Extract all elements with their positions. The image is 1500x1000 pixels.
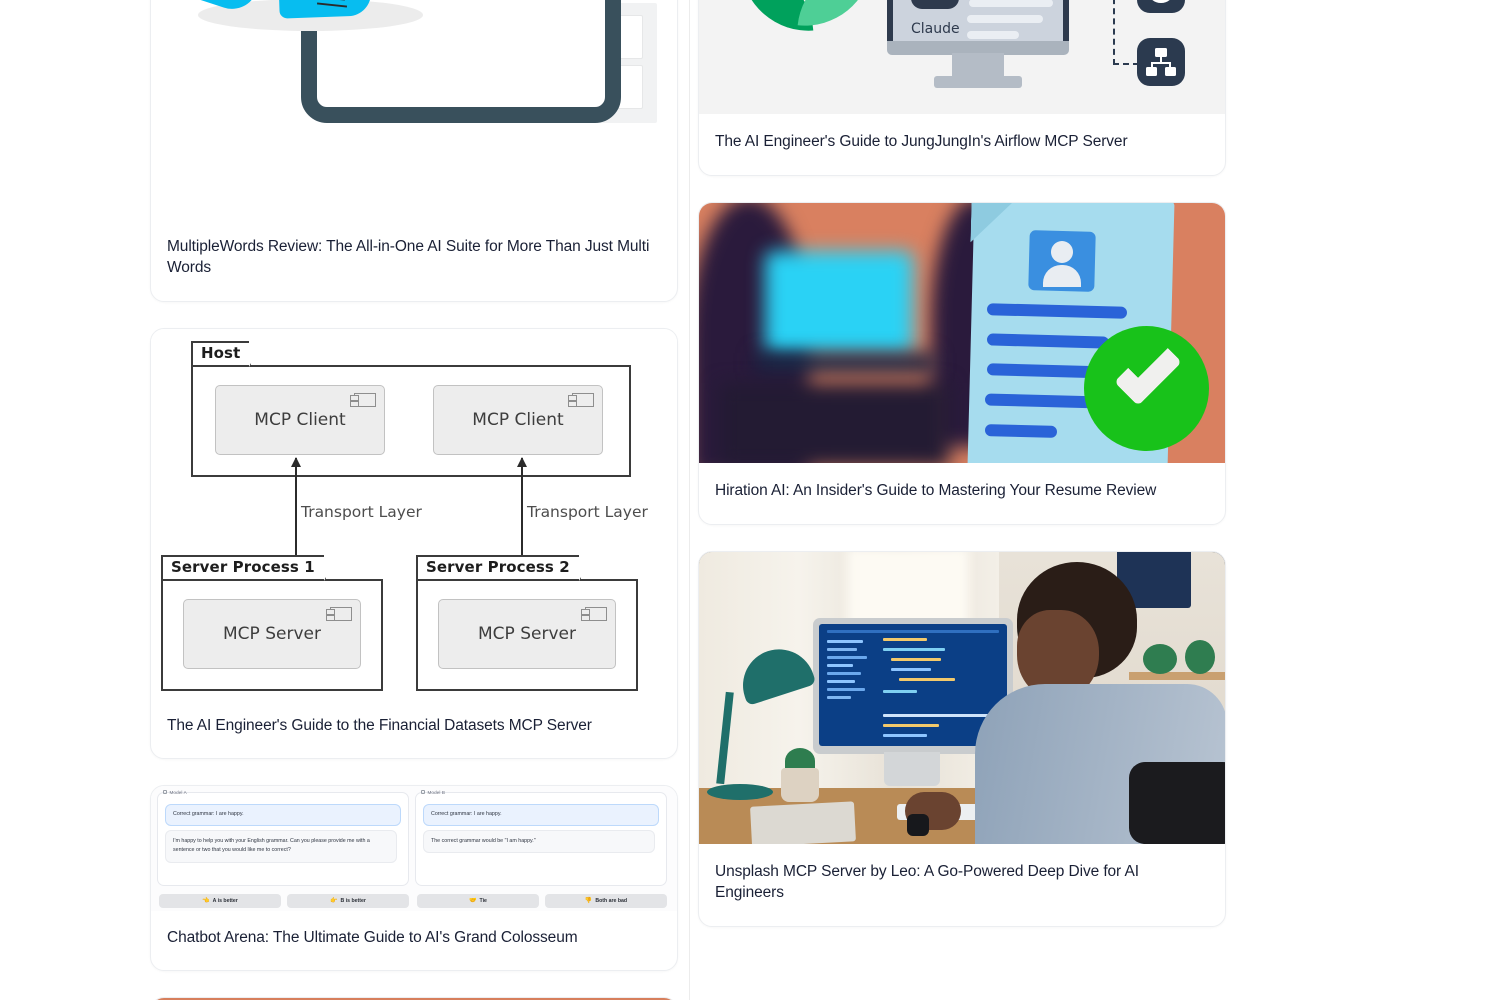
wall-shelf [1129, 672, 1225, 680]
photo-developer-at-desk [699, 552, 1225, 844]
assistant-label: Claude [911, 21, 960, 37]
connector-line [1113, 0, 1115, 65]
host-label: Host [191, 341, 251, 367]
skeleton-line [967, 31, 1019, 39]
column-divider [689, 0, 690, 1000]
card-title: Unsplash MCP Server by Leo: A Go-Powered… [699, 844, 1225, 926]
code-editor-screen [819, 624, 1007, 746]
blurred-foreground [719, 383, 949, 463]
avatar-head [1051, 241, 1073, 263]
panel-icon [421, 790, 425, 794]
prompt-bubble-a: Correct grammar: I are happy. [165, 804, 401, 826]
right-column: Claude [698, 0, 1226, 953]
handshake-icon: 🤝 [469, 897, 476, 904]
transport-layer-label-1: Transport Layer [301, 503, 422, 521]
mcp-server-1: MCP Server [183, 599, 361, 669]
skeleton-line [969, 0, 1053, 7]
mcp-server-label: MCP Server [223, 624, 321, 644]
component-icon [572, 393, 594, 407]
connector-line [1113, 63, 1139, 65]
component-icon [330, 607, 352, 621]
model-a-label: Model A [163, 790, 187, 795]
thumb-left-icon: 👈 [202, 897, 209, 904]
card-unsplash-mcp-server[interactable]: Unsplash MCP Server by Leo: A Go-Powered… [698, 551, 1226, 927]
mcp-client-1: MCP Client [215, 385, 385, 455]
assistant-avatar [911, 0, 959, 9]
alert-icon [1137, 0, 1185, 13]
desk-plant-pot [781, 768, 819, 802]
thumb-down-icon: 👎 [585, 897, 592, 904]
notebook [750, 801, 856, 844]
vote-tie-button[interactable]: 🤝 Tie [417, 894, 539, 908]
card-financial-datasets-mcp[interactable]: Host MCP Client MCP Client Transport Lay… [150, 328, 678, 759]
shelf-plant [1143, 644, 1177, 674]
card-title: Chatbot Arena: The Ultimate Guide to AI'… [151, 911, 677, 970]
wrist-watch [907, 814, 929, 836]
illustration-airflow-claude: Claude [699, 0, 1225, 114]
card-jungjungin-airflow-mcp[interactable]: Claude [698, 0, 1226, 176]
panel-icon [163, 790, 167, 794]
left-column: MultipleWords Review: The All-in-One AI … [150, 0, 678, 1000]
apache-airflow-logo [741, 0, 886, 44]
card-title: The AI Engineer's Guide to JungJungIn's … [699, 114, 1225, 175]
transport-layer-label-2: Transport Layer [527, 503, 648, 521]
model-b-label: Model B [421, 790, 445, 795]
vote-b-is-better-button[interactable]: 👉 B is better [287, 894, 409, 908]
card-title: Hiration AI: An Insider's Guide to Maste… [699, 463, 1225, 524]
office-chair [1129, 762, 1225, 844]
response-bubble-a: I'm happy to help you with your English … [165, 830, 397, 863]
thumb-right-icon: 👉 [330, 897, 337, 904]
server-process-1-label: Server Process 1 [161, 555, 326, 581]
mcp-client-label: MCP Client [472, 410, 563, 430]
mcp-client-label: MCP Client [254, 410, 345, 430]
skeleton-line [967, 15, 1043, 23]
component-icon [354, 393, 376, 407]
server-process-2-label: Server Process 2 [416, 555, 581, 581]
vote-a-is-better-button[interactable]: 👈 A is better [159, 894, 281, 908]
hierarchy-icon [1137, 38, 1185, 86]
card-chatbot-arena[interactable]: Model A Correct grammar: I are happy. I'… [150, 785, 678, 971]
component-icon [585, 607, 607, 621]
resume-line [985, 424, 1057, 438]
mcp-server-label: MCP Server [478, 624, 576, 644]
shelf-plant [1185, 640, 1215, 674]
blurred-desk [755, 353, 935, 373]
mcp-server-2: MCP Server [438, 599, 616, 669]
photo-resume-checkmark [699, 203, 1225, 463]
card-title: MultipleWords Review: The All-in-One AI … [151, 219, 677, 301]
card-feed-page: MultipleWords Review: The All-in-One AI … [0, 0, 1500, 1000]
blurred-screen [765, 251, 913, 355]
screenshot-chatbot-arena: Model A Correct grammar: I are happy. I'… [151, 786, 677, 911]
response-bubble-b: The correct grammar would be "I am happy… [423, 830, 655, 854]
monitor-stand [884, 752, 940, 786]
illustration-person-walking-tablet [151, 0, 677, 219]
card-title: The AI Engineer's Guide to the Financial… [151, 699, 677, 758]
prompt-bubble-b: Correct grammar: I are happy. [423, 804, 659, 826]
desk-lamp-base [707, 784, 773, 800]
mcp-client-2: MCP Client [433, 385, 603, 455]
card-multiplewords-review[interactable]: MultipleWords Review: The All-in-One AI … [150, 0, 678, 302]
diagram-mcp-architecture: Host MCP Client MCP Client Transport Lay… [151, 329, 677, 699]
card-hiration-ai-resume[interactable]: Hiration AI: An Insider's Guide to Maste… [698, 202, 1226, 525]
vote-both-bad-button[interactable]: 👎 Both are bad [545, 894, 667, 908]
monitor-base [934, 76, 1022, 88]
